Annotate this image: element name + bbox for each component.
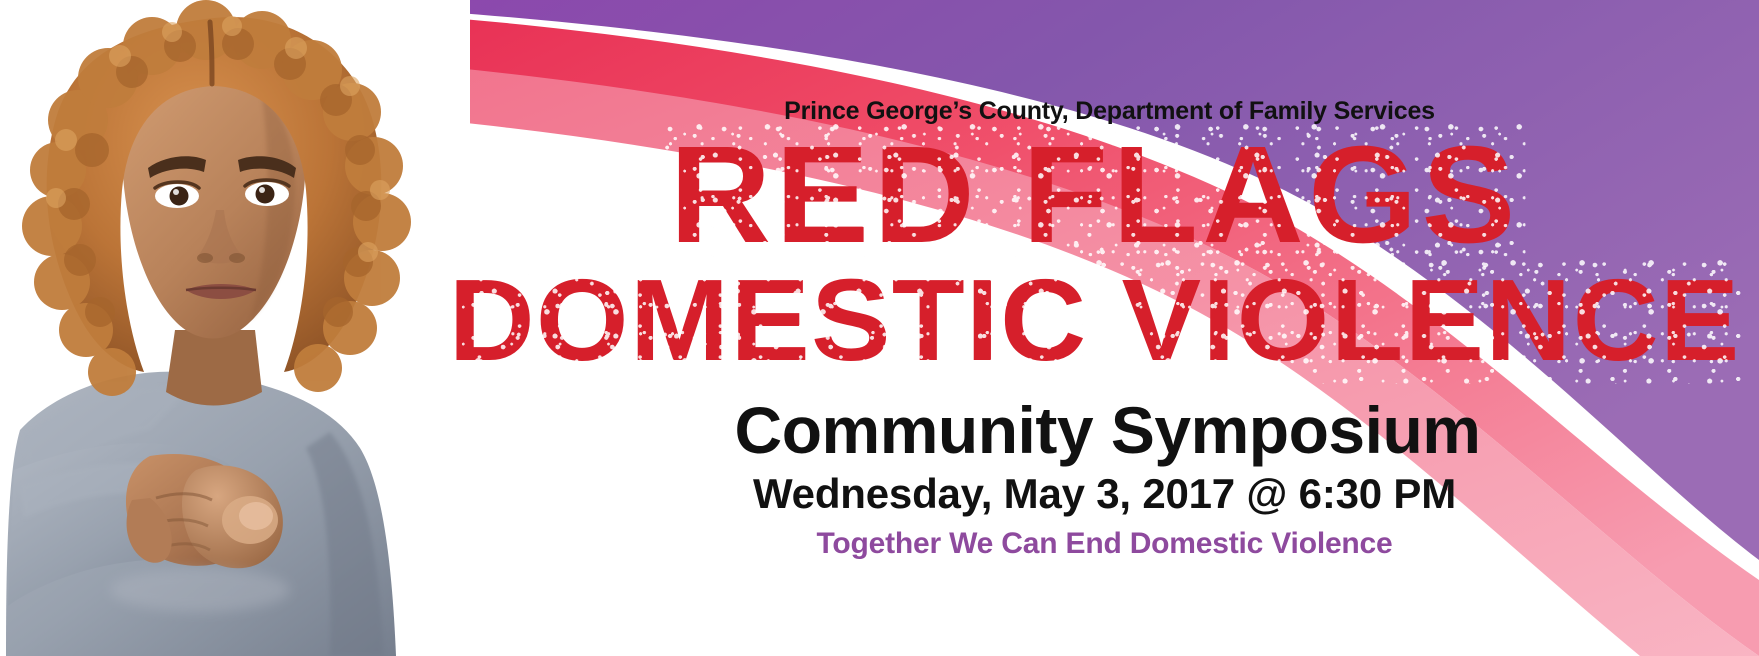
event-type-heading: Community Symposium xyxy=(430,392,1759,468)
title-red-flags: RED FLAGS xyxy=(417,126,1759,264)
title-domestic-violence: DOMESTIC VIOLENCE xyxy=(410,262,1759,378)
promotional-banner: Prince George’s County, Department of Fa… xyxy=(0,0,1759,656)
photo-illustration xyxy=(0,0,470,656)
event-datetime: Wednesday, May 3, 2017 @ 6:30 PM xyxy=(430,470,1759,518)
poster-text-block: Prince George’s County, Department of Fa… xyxy=(430,0,1759,656)
title-domestic-violence-text: DOMESTIC VIOLENCE xyxy=(448,262,1740,378)
title-red-flags-text: RED FLAGS xyxy=(669,126,1519,264)
photo-woman-pointing xyxy=(0,0,470,656)
campaign-tagline: Together We Can End Domestic Violence xyxy=(430,527,1759,561)
